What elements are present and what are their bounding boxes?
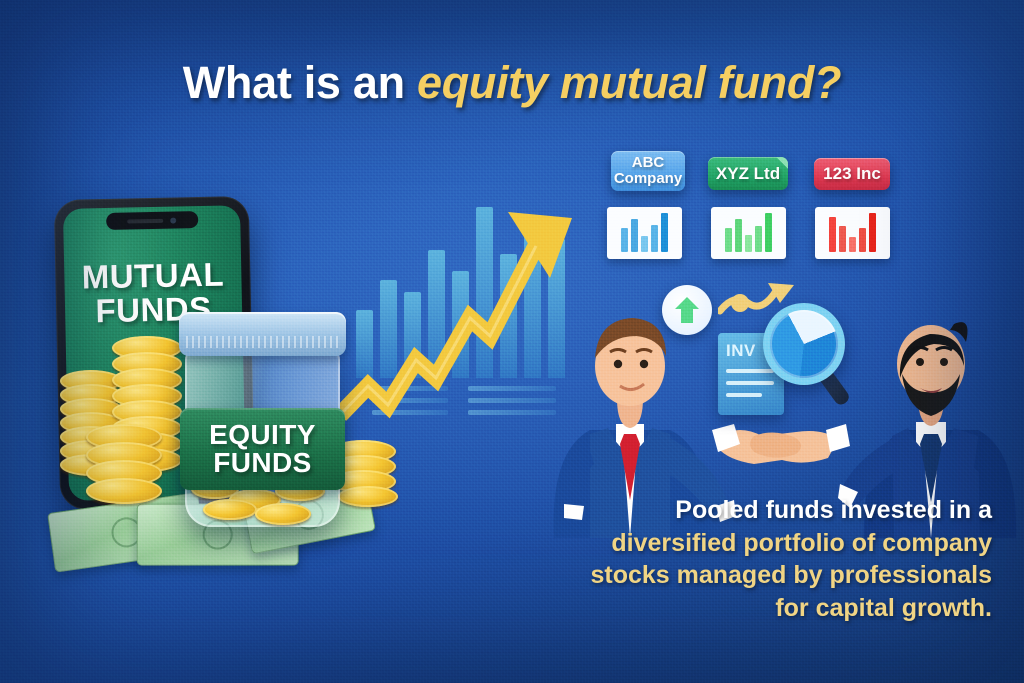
magnifier-ring bbox=[763, 303, 845, 385]
card-123-inc[interactable]: 123 Inc bbox=[814, 158, 890, 190]
phone-label-line1: MUTUAL bbox=[64, 257, 242, 294]
description-line-1: Pooled funds invested in a bbox=[572, 494, 992, 527]
up-arrow-icon bbox=[662, 285, 712, 335]
jar-label-line2: FUNDS bbox=[213, 449, 311, 477]
title-highlight: equity mutual fund? bbox=[417, 57, 841, 108]
magnifier-pie-chart-icon bbox=[763, 303, 855, 403]
card-123-label: 123 Inc bbox=[823, 165, 881, 183]
magnifier-pie-lens bbox=[770, 310, 838, 378]
businessman-left bbox=[520, 238, 740, 538]
jar-lid bbox=[179, 312, 346, 356]
title-plain: What is an bbox=[183, 57, 405, 108]
card-abc-line2: Company bbox=[614, 171, 682, 187]
phone-speaker bbox=[127, 218, 163, 223]
description-line-2: diversified portfolio of company bbox=[572, 527, 992, 560]
card-abc-company[interactable]: ABC Company bbox=[611, 151, 685, 191]
card-xyz-ltd[interactable]: XYZ Ltd bbox=[708, 157, 788, 190]
coin-stack bbox=[86, 424, 166, 514]
phone-notch bbox=[106, 211, 198, 230]
infographic-canvas: MUTUAL FUNDS bbox=[0, 0, 1024, 683]
card-xyz-label: XYZ Ltd bbox=[716, 165, 780, 183]
businessman-right bbox=[838, 238, 1024, 538]
equity-funds-jar: EQUITY FUNDS bbox=[185, 312, 340, 527]
card-abc-line1: ABC bbox=[614, 155, 682, 171]
document-label: INV bbox=[726, 341, 756, 361]
jar-label: EQUITY FUNDS bbox=[180, 408, 345, 490]
jar-label-line1: EQUITY bbox=[209, 421, 316, 449]
phone-camera-icon bbox=[170, 217, 176, 223]
description-line-4: for capital growth. bbox=[572, 592, 992, 625]
description-text: Pooled funds invested in a diversified p… bbox=[572, 494, 992, 624]
description-line-3: stocks managed by professionals bbox=[572, 559, 992, 592]
page-title: What is an equity mutual fund? bbox=[0, 57, 1024, 109]
handshake-icon bbox=[700, 402, 850, 492]
